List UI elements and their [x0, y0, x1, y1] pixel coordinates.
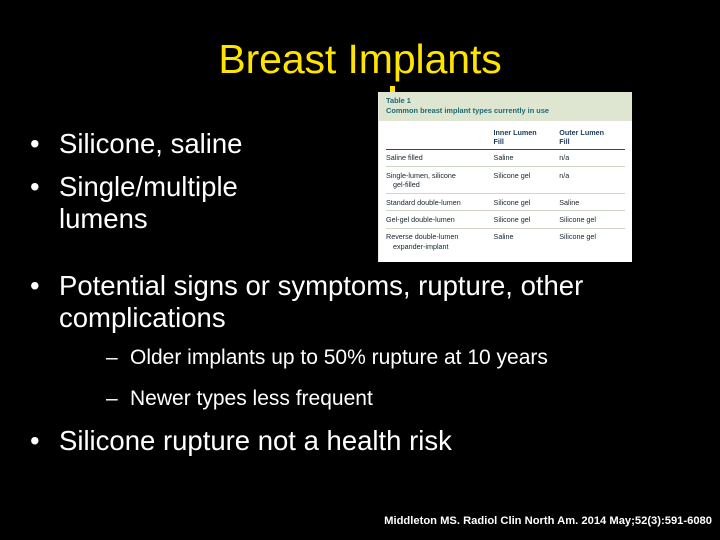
sub-list-item: – Newer types less frequent	[106, 386, 666, 411]
list-item-label: Silicone rupture not a health risk	[59, 425, 630, 457]
table-row: Gel-gel double-lumen Silicone gel Silico…	[386, 211, 625, 228]
list-item: • Single/multiple lumens	[30, 171, 330, 236]
figure-caption-number: Table 1	[386, 96, 625, 106]
table-row: Single-lumen, silicone gel-filled Silico…	[386, 167, 625, 194]
dash-marker-icon: –	[106, 386, 130, 411]
table-row: Standard double-lumen Silicone gel Salin…	[386, 194, 625, 211]
column-header-outer-lumen-fill: Outer Lumen Fill	[559, 121, 625, 150]
figure-caption-text: Common breast implant types currently in…	[386, 106, 625, 116]
figure-table-body: Inner Lumen Fill Outer Lumen Fill Saline…	[379, 121, 632, 255]
table-header-row: Inner Lumen Fill Outer Lumen Fill	[386, 121, 625, 150]
cell-outer-fill: n/a	[559, 167, 625, 194]
presentation-slide: Breast Implants • Silicone, saline • Sin…	[0, 0, 720, 540]
bullet-marker-icon: •	[30, 128, 59, 160]
cell-outer-fill: Silicone gel	[559, 228, 625, 254]
cell-inner-fill: Silicone gel	[494, 194, 560, 211]
list-item-label: Single/multiple lumens	[59, 171, 330, 236]
implant-types-table: Inner Lumen Fill Outer Lumen Fill Saline…	[386, 121, 625, 255]
column-header-inner-lumen-fill: Inner Lumen Fill	[494, 121, 560, 150]
source-citation: Middleton MS. Radiol Clin North Am. 2014…	[384, 515, 712, 527]
cell-outer-fill: Silicone gel	[559, 211, 625, 228]
cell-inner-fill: Saline	[494, 228, 560, 254]
bullet-marker-icon: •	[30, 171, 59, 203]
table-row: Reverse double-lumen expander-implant Sa…	[386, 228, 625, 254]
table-row: Saline filled Saline n/a	[386, 149, 625, 166]
cell-inner-fill: Saline	[494, 149, 560, 166]
cell-implant-type: Single-lumen, silicone gel-filled	[386, 167, 494, 194]
cell-outer-fill: n/a	[559, 149, 625, 166]
list-item-label: Potential signs or symptoms, rupture, ot…	[59, 270, 630, 335]
cell-inner-fill: Silicone gel	[494, 167, 560, 194]
dash-marker-icon: –	[106, 345, 130, 370]
cell-implant-type: Standard double-lumen	[386, 194, 494, 211]
figure-caption: Table 1 Common breast implant types curr…	[379, 92, 632, 121]
cell-implant-type: Saline filled	[386, 149, 494, 166]
cell-outer-fill: Saline	[559, 194, 625, 211]
sub-list-item-label: Older implants up to 50% rupture at 10 y…	[130, 345, 666, 370]
column-header-type	[386, 121, 494, 150]
cell-implant-type: Gel-gel double-lumen	[386, 211, 494, 228]
cell-inner-fill: Silicone gel	[494, 211, 560, 228]
sub-list-item: – Older implants up to 50% rupture at 10…	[106, 345, 666, 370]
list-item: • Potential signs or symptoms, rupture, …	[30, 270, 630, 335]
list-item: • Silicone, saline	[30, 128, 360, 160]
list-item-label: Silicone, saline	[59, 128, 360, 160]
sub-list-item-label: Newer types less frequent	[130, 386, 666, 411]
list-item: • Silicone rupture not a health risk	[30, 425, 630, 457]
bullet-marker-icon: •	[30, 270, 59, 302]
cell-implant-type: Reverse double-lumen expander-implant	[386, 228, 494, 254]
page-title: Breast Implants	[0, 38, 720, 81]
table-figure-image: Table 1 Common breast implant types curr…	[378, 92, 632, 262]
bullet-marker-icon: •	[30, 425, 59, 457]
